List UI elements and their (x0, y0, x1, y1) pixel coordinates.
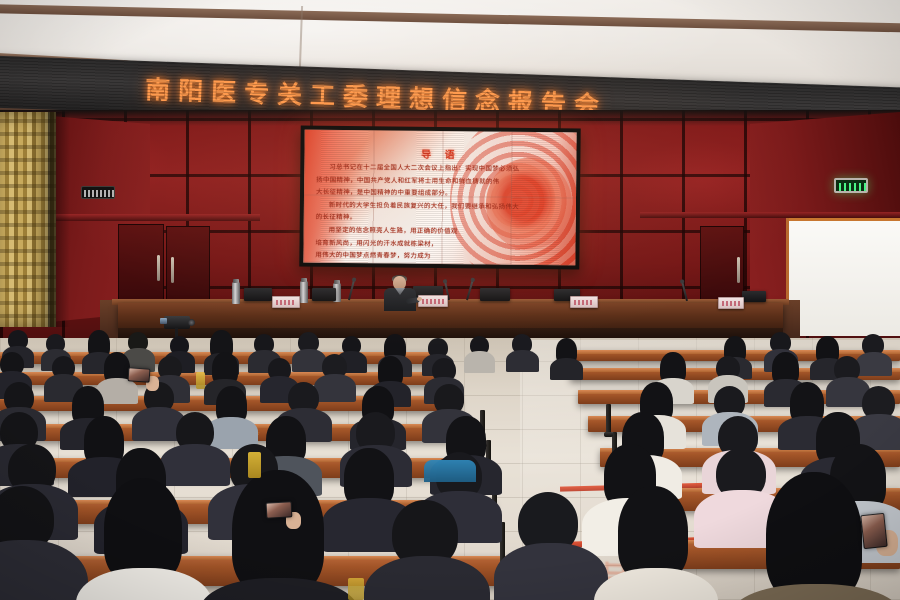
stage-monitor (480, 288, 510, 301)
smartphone[interactable] (860, 513, 887, 549)
lanyard (248, 452, 261, 478)
emergency-exit-icon (834, 178, 868, 193)
led-pixel-grid (303, 130, 576, 266)
stage-monitor (244, 288, 272, 301)
camera-lens-icon (188, 319, 195, 326)
side-door[interactable] (166, 226, 210, 306)
thermos-bottle (232, 282, 240, 304)
wall-sign (81, 186, 115, 199)
whiteboard (786, 218, 900, 336)
nameplate (718, 297, 744, 309)
video-camera (160, 312, 194, 338)
desk-foot (604, 432, 613, 437)
camera-screen (160, 318, 167, 324)
presentation-screen: 导 语 习总书记在十二届全国人大二次会议上指出：实现中国梦必须弘 扬中国精神，中… (299, 126, 580, 270)
screen-surface: 导 语 习总书记在十二届全国人大二次会议上指出：实现中国梦必须弘 扬中国精神，中… (303, 130, 576, 266)
smartphone[interactable] (128, 367, 151, 383)
phone-screen (861, 514, 886, 548)
nameplate (272, 296, 300, 308)
lanyard (196, 372, 205, 389)
head-table (118, 303, 783, 330)
door-handle-icon (157, 255, 160, 281)
stage-monitor (312, 288, 336, 301)
door-handle-icon (737, 257, 740, 283)
speaker-hand (417, 297, 422, 301)
audience-jacket-accent (424, 460, 476, 482)
lecture-hall-photo: 南阳医专关工委理想信念报告会 导 语 习总书记在十二届全国人大二次会议上指出：实… (0, 0, 900, 600)
smartphone[interactable] (266, 501, 293, 518)
thermos-bottle (300, 281, 308, 303)
speaker-person (382, 276, 418, 310)
phone-screen (267, 502, 292, 517)
curtain-shadow (48, 112, 70, 327)
nameplate (570, 296, 598, 308)
desk-leg (606, 404, 611, 434)
nameplate (418, 295, 448, 307)
door-handle-icon (171, 257, 174, 283)
side-door[interactable] (118, 224, 164, 306)
phone-screen (129, 368, 150, 381)
stage-monitor (742, 291, 766, 302)
side-door[interactable] (700, 226, 744, 306)
lanyard (348, 578, 364, 600)
